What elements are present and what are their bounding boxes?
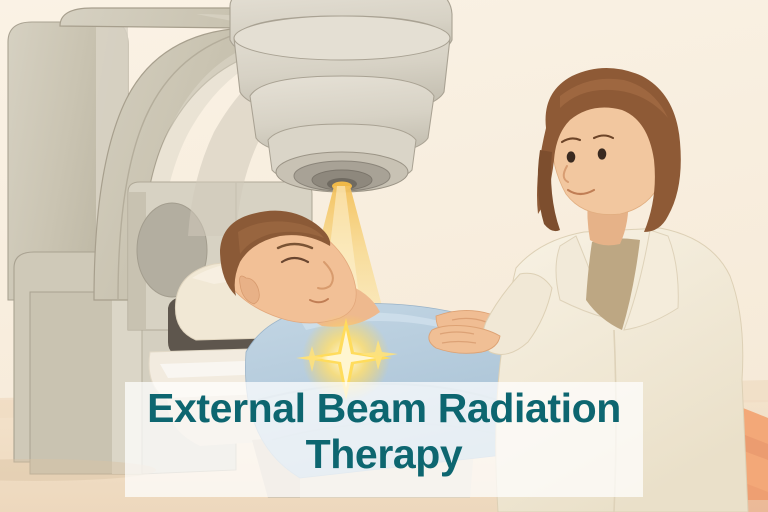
illustration-canvas: External Beam Radiation Therapy <box>0 0 768 512</box>
page-title: External Beam Radiation Therapy <box>125 386 643 478</box>
clinician-eye-left <box>567 151 576 162</box>
title-overlay-panel: External Beam Radiation Therapy <box>125 382 643 497</box>
head-tier-1-top <box>234 16 450 60</box>
clinician-eye-right <box>598 148 607 159</box>
